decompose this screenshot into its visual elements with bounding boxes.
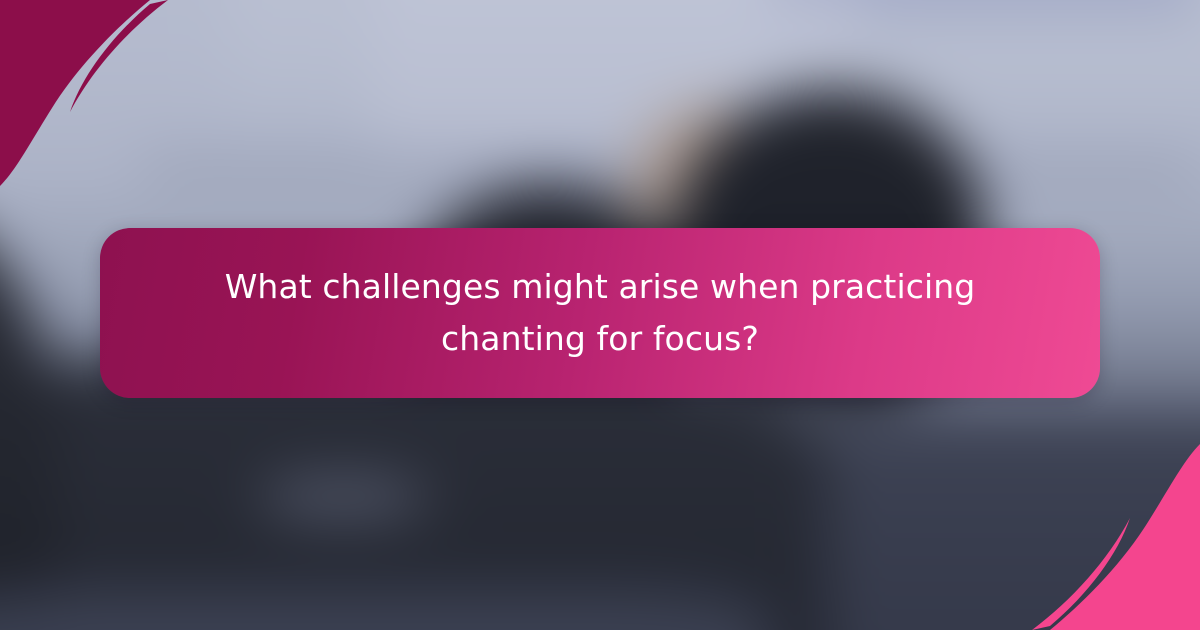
swoosh-top-left-icon	[0, 0, 260, 240]
question-card: What challenges might arise when practic…	[100, 228, 1100, 398]
share-card-canvas: What challenges might arise when practic…	[0, 0, 1200, 630]
swoosh-bottom-right-icon	[940, 390, 1200, 630]
question-text: What challenges might arise when practic…	[164, 261, 1036, 365]
